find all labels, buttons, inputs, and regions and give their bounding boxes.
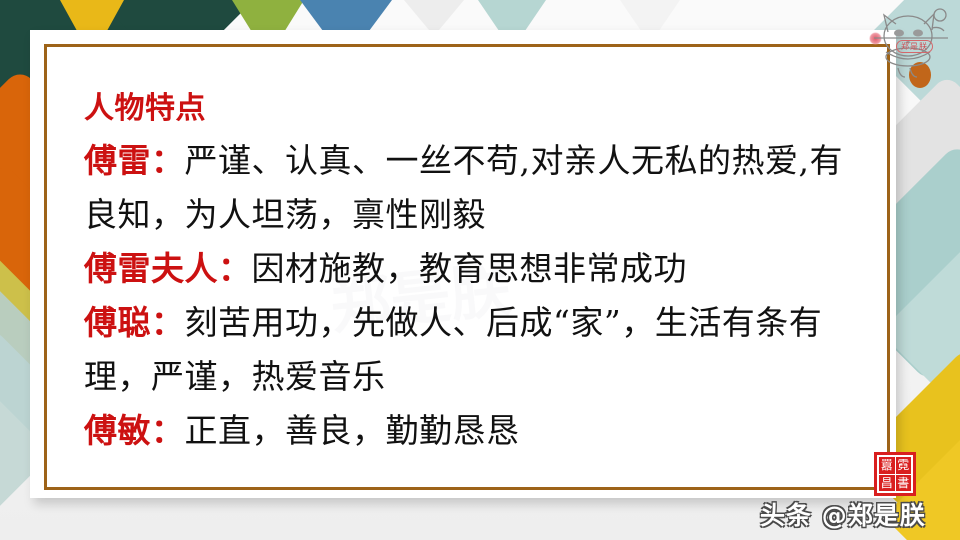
entry-name: 傅雷夫人 <box>84 249 218 288</box>
cat-stamp-label: 郑是朕 <box>896 40 933 53</box>
watermark-text: 头条 @郑是朕 <box>760 496 926 532</box>
entry-separator: ： <box>218 249 252 288</box>
seal-char: 囂 <box>879 457 895 474</box>
entry-row: 傅聪：刻苦用功，先做人、后成“家”，生活有条有理，严谨，热爱音乐 <box>84 296 844 404</box>
entry-description: 因材施教，教育思想非常成功 <box>252 249 688 288</box>
entry-row: 傅雷：严谨、认真、一丝不苟,对亲人无私的热爱,有良知，为人坦荡，禀性刚毅 <box>84 134 844 242</box>
entry-separator: ： <box>151 303 185 342</box>
entry-separator: ： <box>151 411 185 450</box>
red-seal-stamp: 囂 霓 昌 書 <box>874 452 916 496</box>
entry-description: 严谨、认真、一丝不苟,对亲人无私的热爱,有良知，为人坦荡，禀性刚毅 <box>84 141 843 234</box>
seal-char: 霓 <box>896 457 912 474</box>
slide-canvas: 郑是朕 人物特点 傅雷：严谨、认真、一丝不苟,对亲人无私的热爱,有良知，为人坦荡… <box>0 0 960 540</box>
seal-char: 書 <box>896 475 912 492</box>
entry-description: 正直，善良，勤勤恳恳 <box>185 411 520 450</box>
text-content-block: 人物特点 傅雷：严谨、认真、一丝不苟,对亲人无私的热爱,有良知，为人坦荡，禀性刚… <box>84 86 844 458</box>
entry-row: 傅雷夫人：因材施教，教育思想非常成功 <box>84 242 844 296</box>
entry-name: 傅雷 <box>84 141 151 180</box>
seal-char: 昌 <box>879 475 895 492</box>
entry-name: 傅敏 <box>84 411 151 450</box>
entry-row: 傅敏：正直，善良，勤勤恳恳 <box>84 404 844 458</box>
page-title: 人物特点 <box>84 86 844 132</box>
entry-description: 刻苦用功，先做人、后成“家”，生活有条有理，严谨，热爱音乐 <box>84 303 822 396</box>
entry-name: 傅聪 <box>84 303 151 342</box>
entry-separator: ： <box>151 141 185 180</box>
